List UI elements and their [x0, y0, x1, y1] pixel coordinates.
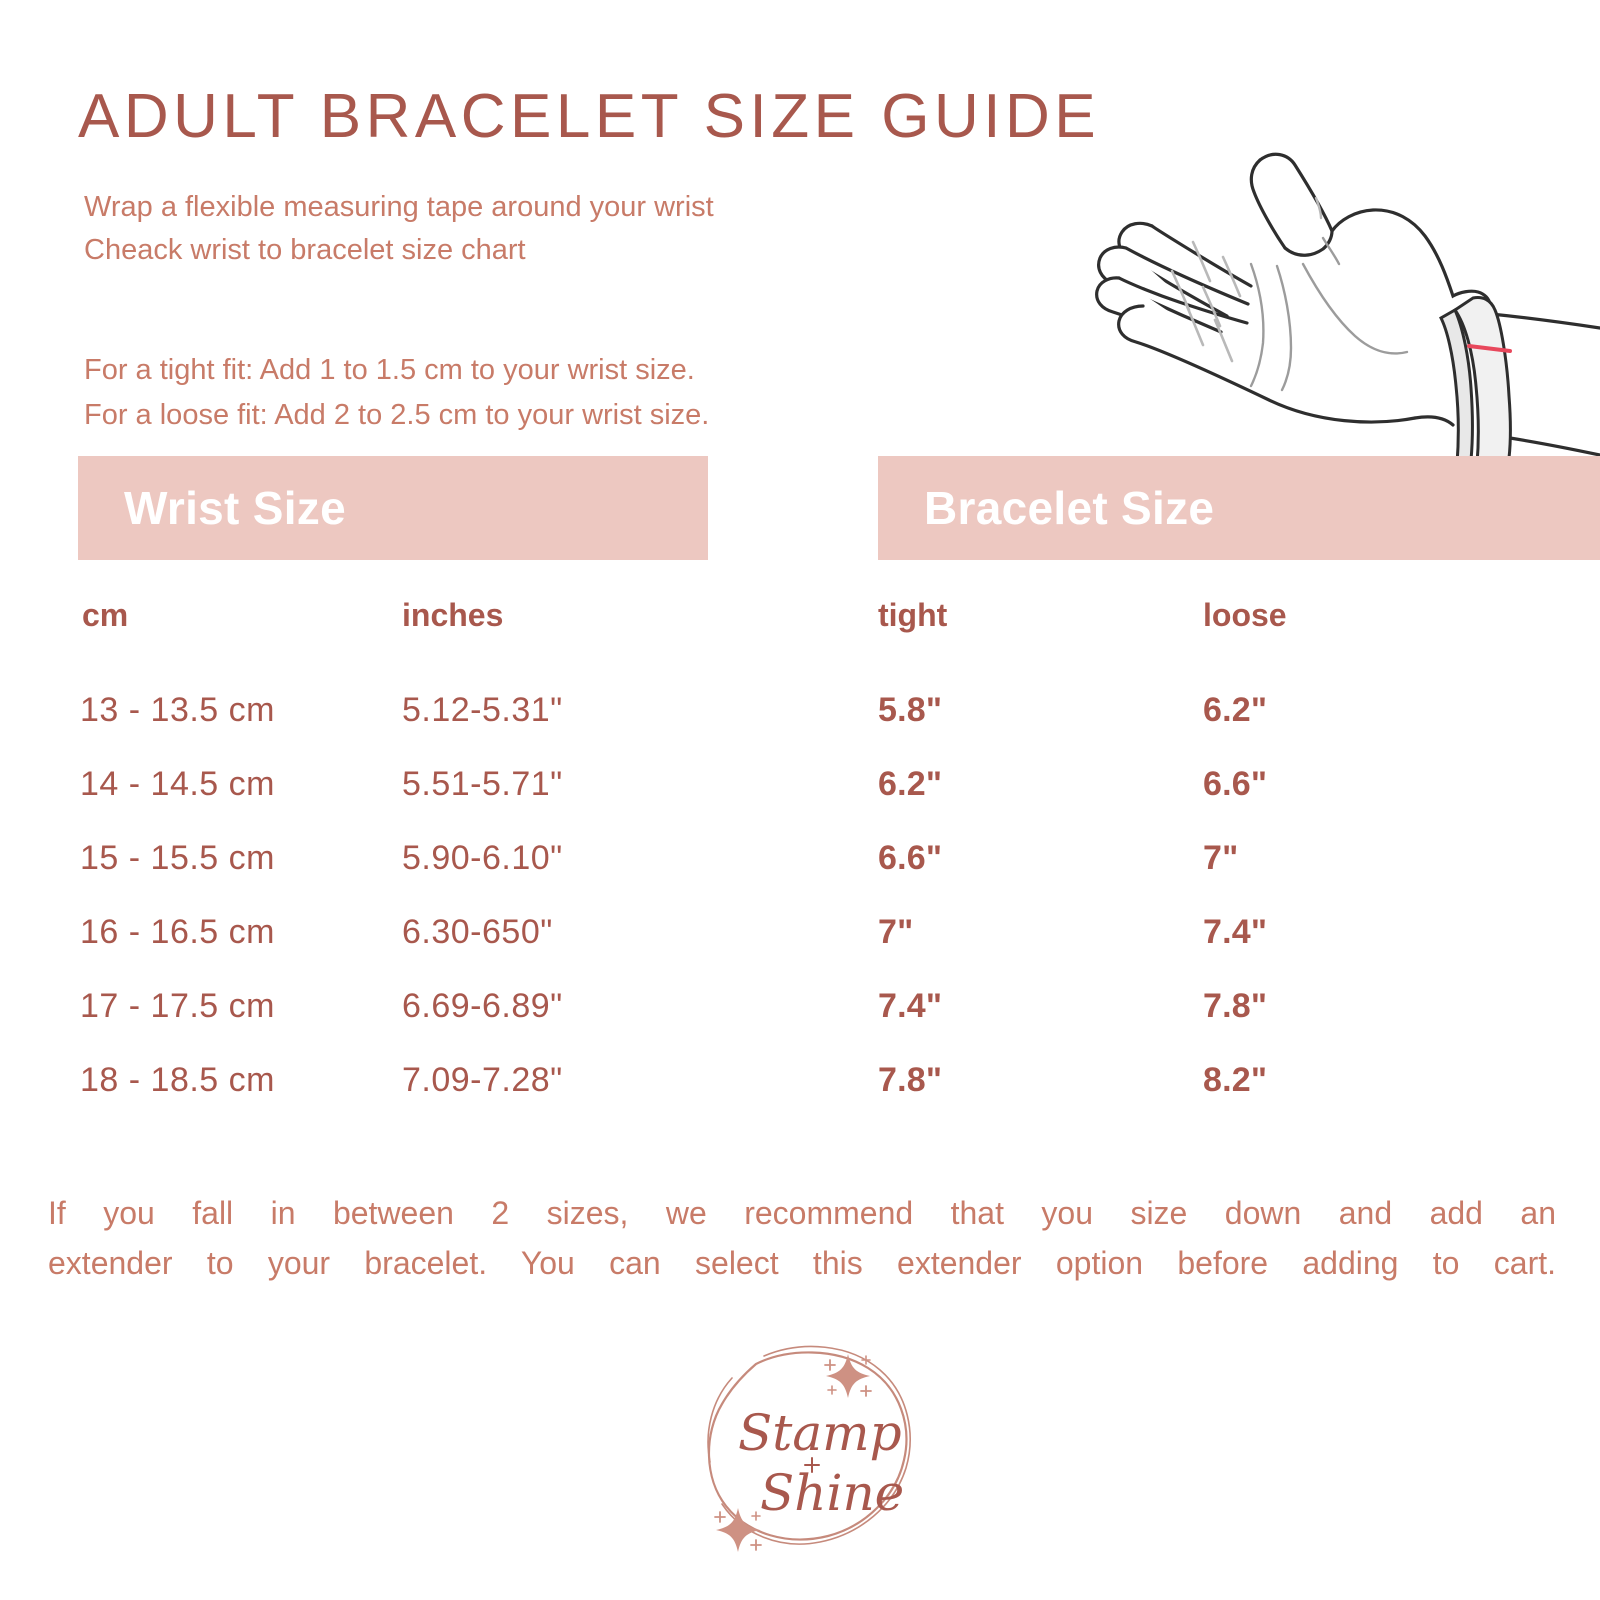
logo-word-shine: Shine: [760, 1464, 904, 1522]
wrist-size-band: Wrist Size: [78, 456, 708, 560]
cell-loose: 6.2": [1203, 690, 1267, 730]
size-table-rows: 13 - 13.5 cm5.12-5.31"5.8"6.2"14 - 14.5 …: [0, 690, 1600, 1134]
intro-line-1: Wrap a flexible measuring tape around yo…: [84, 186, 714, 229]
cell-loose: 7.8": [1203, 986, 1267, 1026]
cell-cm: 16 - 16.5 cm: [80, 912, 275, 952]
cell-loose: 6.6": [1203, 764, 1267, 804]
sparkle-icon: [715, 1508, 761, 1552]
cell-tight: 7.4": [878, 986, 942, 1026]
column-header-inches: inches: [402, 597, 503, 634]
footer-note-line-1: If you fall in between 2 sizes, we recom…: [48, 1188, 1556, 1238]
intro-line-2: Cheack wrist to bracelet size chart: [84, 229, 714, 272]
bracelet-size-band: Bracelet Size: [878, 456, 1600, 560]
cell-tight: 6.2": [878, 764, 942, 804]
cell-tight: 6.6": [878, 838, 942, 878]
logo-word-stamp: Stamp: [738, 1404, 902, 1462]
cell-tight: 5.8": [878, 690, 942, 730]
cell-loose: 7.4": [1203, 912, 1267, 952]
column-header-cm: cm: [82, 597, 128, 634]
table-row: 15 - 15.5 cm5.90-6.10"6.6"7": [0, 838, 1600, 912]
cell-cm: 13 - 13.5 cm: [80, 690, 275, 730]
table-row: 18 - 18.5 cm7.09-7.28"7.8"8.2": [0, 1060, 1600, 1134]
cell-inches: 5.51-5.71": [402, 764, 563, 804]
column-header-tight: tight: [878, 597, 947, 634]
tight-fit-note: For a tight fit: Add 1 to 1.5 cm to your…: [84, 348, 709, 393]
cell-tight: 7": [878, 912, 913, 952]
page-title: ADULT BRACELET SIZE GUIDE: [78, 86, 1100, 148]
loose-fit-note: For a loose fit: Add 2 to 2.5 cm to your…: [84, 393, 709, 438]
bracelet-size-band-label: Bracelet Size: [924, 481, 1214, 535]
table-row: 17 - 17.5 cm6.69-6.89"7.4"7.8": [0, 986, 1600, 1060]
footer-note: If you fall in between 2 sizes, we recom…: [48, 1188, 1556, 1288]
cell-inches: 6.69-6.89": [402, 986, 563, 1026]
cell-loose: 7": [1203, 838, 1238, 878]
hand-illustration: [1055, 138, 1600, 478]
sparkle-icon: [825, 1354, 871, 1398]
hand-with-measuring-tape-icon: [1055, 138, 1600, 478]
footer-note-line-2: extender to your bracelet. You can selec…: [48, 1238, 1556, 1288]
cell-cm: 14 - 14.5 cm: [80, 764, 275, 804]
cell-inches: 6.30-650": [402, 912, 553, 952]
intro-instructions: Wrap a flexible measuring tape around yo…: [84, 186, 714, 272]
cell-cm: 18 - 18.5 cm: [80, 1060, 275, 1100]
cell-tight: 7.8": [878, 1060, 942, 1100]
fit-instructions: For a tight fit: Add 1 to 1.5 cm to your…: [84, 348, 709, 438]
table-row: 16 - 16.5 cm6.30-650"7"7.4": [0, 912, 1600, 986]
cell-cm: 15 - 15.5 cm: [80, 838, 275, 878]
table-row: 13 - 13.5 cm5.12-5.31"5.8"6.2": [0, 690, 1600, 764]
table-row: 14 - 14.5 cm5.51-5.71"6.2"6.6": [0, 764, 1600, 838]
cell-inches: 7.09-7.28": [402, 1060, 563, 1100]
stamp-and-shine-logo-icon: Stamp Shine: [660, 1312, 960, 1572]
brand-logo: Stamp Shine: [660, 1312, 960, 1572]
cell-loose: 8.2": [1203, 1060, 1267, 1100]
cell-cm: 17 - 17.5 cm: [80, 986, 275, 1026]
wrist-size-band-label: Wrist Size: [124, 481, 346, 535]
cell-inches: 5.12-5.31": [402, 690, 563, 730]
cell-inches: 5.90-6.10": [402, 838, 563, 878]
column-header-loose: loose: [1203, 597, 1287, 634]
